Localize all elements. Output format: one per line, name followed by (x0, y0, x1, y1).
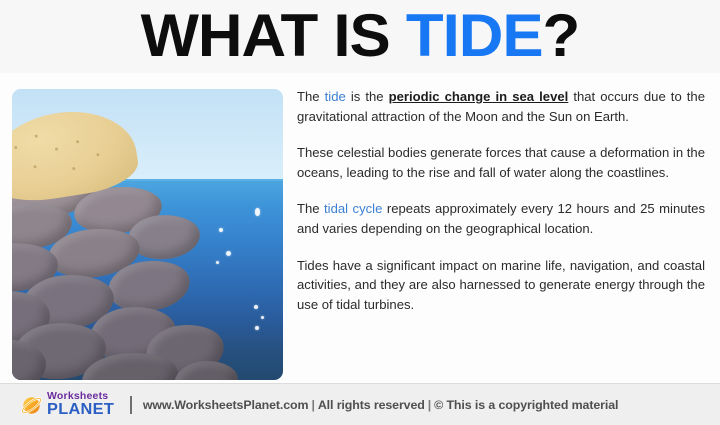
paragraph-3: The tidal cycle repeats approximately ev… (297, 199, 705, 238)
copyright-icon: © (434, 398, 443, 412)
paragraph-4: Tides have a significant impact on marin… (297, 256, 705, 315)
logo-top-word: Worksheets (47, 391, 113, 402)
page-content: The tide is the periodic change in sea l… (0, 73, 720, 383)
bubble-icon (255, 208, 260, 216)
sand-speck (33, 165, 36, 168)
title-keyword: TIDE (406, 2, 543, 69)
paragraph-2: These celestial bodies generate forces t… (297, 143, 705, 182)
footer-divider (130, 396, 132, 414)
bubble-icon (261, 316, 264, 319)
sand-speck (72, 167, 75, 170)
title-prefix: WHAT IS (141, 2, 406, 69)
footer-separator: | (425, 398, 434, 412)
paragraph-1: The tide is the periodic change in sea l… (297, 87, 705, 126)
worksheet-page: WHAT IS TIDE? (0, 0, 720, 424)
emphasized-definition: periodic change in sea level (389, 89, 569, 104)
title-question-mark: ? (543, 2, 580, 69)
page-header: WHAT IS TIDE? (0, 0, 720, 74)
footer-separator: | (308, 398, 317, 412)
page-footer: Worksheets PLANET www.WorksheetsPlanet.c… (0, 383, 720, 425)
sand-speck (55, 147, 58, 150)
sand-speck (96, 153, 99, 156)
footer-copyright-text: This is a copyrighted material (446, 398, 618, 412)
highlighted-term: tidal cycle (324, 201, 382, 216)
sand-speck (76, 140, 79, 143)
page-title: WHAT IS TIDE? (141, 5, 580, 69)
bubble-icon (255, 326, 259, 330)
logo-bottom-word: PLANET (47, 402, 114, 418)
logo-wordmark: Worksheets PLANET (47, 391, 113, 419)
planet-icon (20, 393, 44, 417)
worksheets-planet-logo[interactable]: Worksheets PLANET (20, 390, 113, 420)
highlighted-term: tide (325, 89, 346, 104)
footer-rights: All rights reserved (318, 398, 425, 412)
tide-illustration (12, 89, 283, 380)
bubble-icon (254, 305, 258, 309)
cliff-rock-formation (12, 111, 228, 380)
sand-speck (14, 146, 17, 149)
article-text: The tide is the periodic change in sea l… (297, 87, 705, 314)
sand-speck (35, 134, 38, 137)
footer-website[interactable]: www.WorksheetsPlanet.com (143, 398, 309, 412)
footer-credits: www.WorksheetsPlanet.com|All rights rese… (143, 398, 619, 412)
